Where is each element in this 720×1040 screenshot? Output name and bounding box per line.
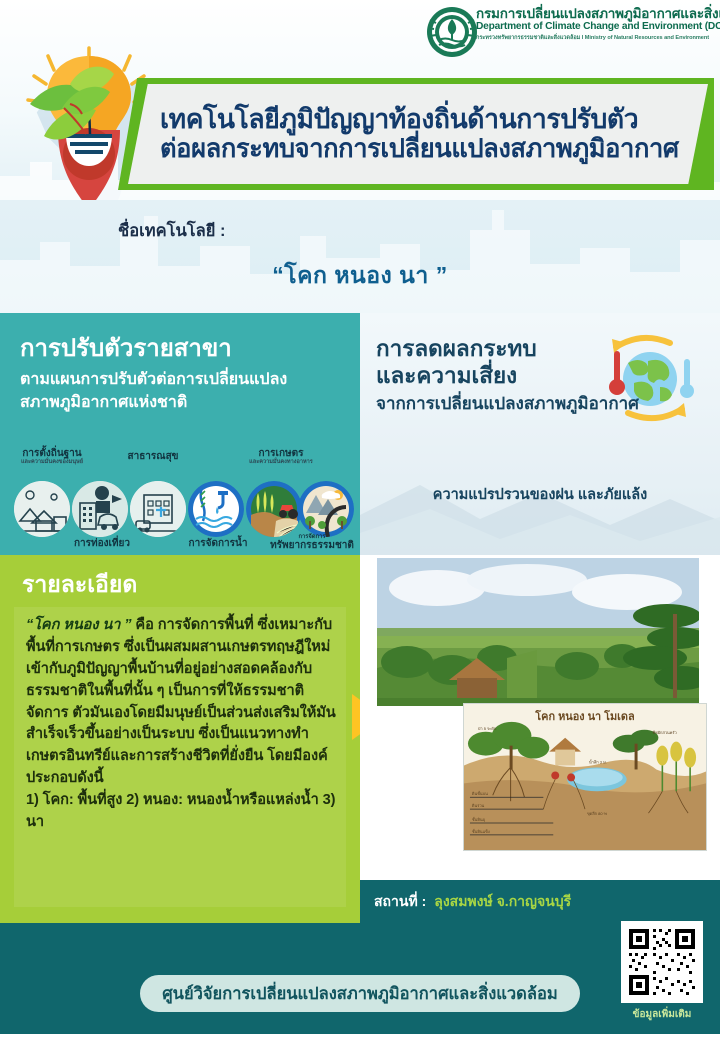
svg-text:ดินร่วน: ดินร่วน <box>472 803 485 808</box>
mountain-decoration <box>360 459 720 555</box>
details-quote-name: “โคก หนอง นา ” <box>26 617 131 633</box>
title-line-2: ต่อผลกระทบจากการเปลี่ยนแปลงสภาพภูมิอากาศ <box>160 135 694 165</box>
details-paragraph: “โคก หนอง นา ” คือ การจัดการพื้นที่ ซึ่ง… <box>26 615 336 790</box>
adaptation-subheading-2: สภาพภูมิอากาศแห่งชาติ <box>20 392 342 415</box>
qr-code-icon[interactable] <box>621 921 703 1003</box>
research-center-name: ศูนย์วิจัยการเปลี่ยนแปลงสภาพภูมิอากาศและ… <box>162 981 558 1007</box>
adaptation-heading: การปรับตัวรายสาขา <box>20 335 342 364</box>
technology-value: “โคก หนอง นา ” <box>0 258 720 294</box>
technology-name-zone <box>0 200 720 313</box>
technology-label: ชื่อเทคโนโลยี : <box>118 218 226 244</box>
sector-label-natural-resources: การจัดการ ทรัพยากรธรรมชาติ <box>264 534 360 552</box>
poster-root: กรมการเปลี่ยนแปลงสภาพภูมิอากาศและสิ่งแวด… <box>0 0 720 1040</box>
svg-text:ชั้นหินแข็ง: ชั้นหินแข็ง <box>472 827 490 834</box>
skyline-decoration-2 <box>0 200 720 313</box>
location-row: สถานที่ : ลุงสมพงษ์ จ.กาญจนบุรี <box>360 880 720 923</box>
qr-caption: ข้อมูลเพิ่มเติม <box>612 1007 712 1022</box>
mitigation-note: ความแปรปรวนของฝน และภัยแล้ง <box>360 483 720 506</box>
details-heading: รายละเอียด <box>22 567 137 603</box>
mitigation-heading-1: การลดผลกระทบ <box>376 335 704 362</box>
details-panel: รายละเอียด “โคก หนอง นา ” คือ การจัดการพ… <box>0 555 360 923</box>
org-ministry: กระทรวงทรัพยากรธรรมชาติและสิ่งแวดล้อม I … <box>476 35 712 42</box>
media-column: โคก หนอง นา โมเดล <box>360 555 720 923</box>
location-label: สถานที่ : <box>374 891 426 913</box>
svg-text:พืชผักสวนครัว: พืชผักสวนครัว <box>652 730 677 735</box>
svg-text:ป่า 5 ระดับ: ป่า 5 ระดับ <box>478 726 497 731</box>
org-name-thai: กรมการเปลี่ยนแปลงสภาพภูมิอากาศและสิ่งแวด… <box>476 6 712 21</box>
details-body: “โคก หนอง นา ” คือ การจัดการพื้นที่ ซึ่ง… <box>14 607 346 907</box>
details-text: คือ การจัดการพื้นที่ ซึ่งเหมาะกับพื้นที่… <box>26 617 336 786</box>
settlement-icon <box>14 481 70 537</box>
agriculture-icon <box>246 481 302 537</box>
natural-resources-icon <box>298 481 354 537</box>
farm-landscape-photo <box>377 558 699 706</box>
sector-label-public-health: สาธารณสุข <box>108 451 198 462</box>
mitigation-subheading: จากการเปลี่ยนแปลงสภาพภูมิอากาศ <box>376 393 704 416</box>
footer-bottom-strip <box>0 1034 720 1040</box>
title-line-1: เทคโนโลยีภูมิปัญญาท้องถิ่นด้านการปรับตัว <box>160 104 694 135</box>
org-name-english: Department of Climate Change and Environ… <box>476 21 712 34</box>
research-center-pill: ศูนย์วิจัยการเปลี่ยนแปลงสภาพภูมิอากาศและ… <box>140 975 580 1012</box>
mitigation-panel: การลดผลกระทบ และความเสี่ยง จากการเปลี่ยน… <box>360 313 720 555</box>
khok-nong-na-model-diagram: โคก หนอง นา โมเดล <box>463 703 707 851</box>
adaptation-subheading-1: ตามแผนการปรับตัวต่อการเปลี่ยนแปลง <box>20 369 342 392</box>
sector-label-tourism: การท่องเที่ยว <box>56 538 148 549</box>
sector-label-water: การจัดการน้ำ <box>172 538 264 549</box>
org-identity: กรมการเปลี่ยนแปลงสภาพภูมิอากาศและสิ่งแวด… <box>476 6 712 42</box>
svg-text:น้ำลึก 3 ม.: น้ำลึก 3 ม. <box>589 758 607 765</box>
sector-icon-strip: การตั้งถิ่นฐาน และความมั่นคงของมนุษย์ สา… <box>0 448 360 552</box>
water-management-icon <box>188 481 244 537</box>
svg-text:ดินชั้นบน: ดินชั้นบน <box>472 789 489 796</box>
svg-text:ชั้นหินผุ: ชั้นหินผุ <box>472 815 485 823</box>
dcce-logo-icon <box>426 6 478 58</box>
public-health-icon <box>130 481 186 537</box>
location-value: ลุงสมพงษ์ จ.กาญจนบุรี <box>434 891 571 913</box>
sector-label-settlement: การตั้งถิ่นฐาน และความมั่นคงของมนุษย์ <box>2 448 102 465</box>
mitigation-heading-2: และความเสี่ยง <box>376 362 704 389</box>
details-components: 1) โคก: พื้นที่สูง 2) หนอง: หนองน้ำหรือแ… <box>26 790 336 834</box>
tourism-icon <box>72 481 128 537</box>
poster-title: เทคโนโลยีภูมิปัญญาท้องถิ่นด้านการปรับตัว… <box>128 84 708 184</box>
sector-label-agriculture: การเกษตร และความมั่นคงทางอาหาร <box>228 448 334 465</box>
svg-text:โคก หนอง นา โมเดล: โคก หนอง นา โมเดล <box>534 709 634 723</box>
